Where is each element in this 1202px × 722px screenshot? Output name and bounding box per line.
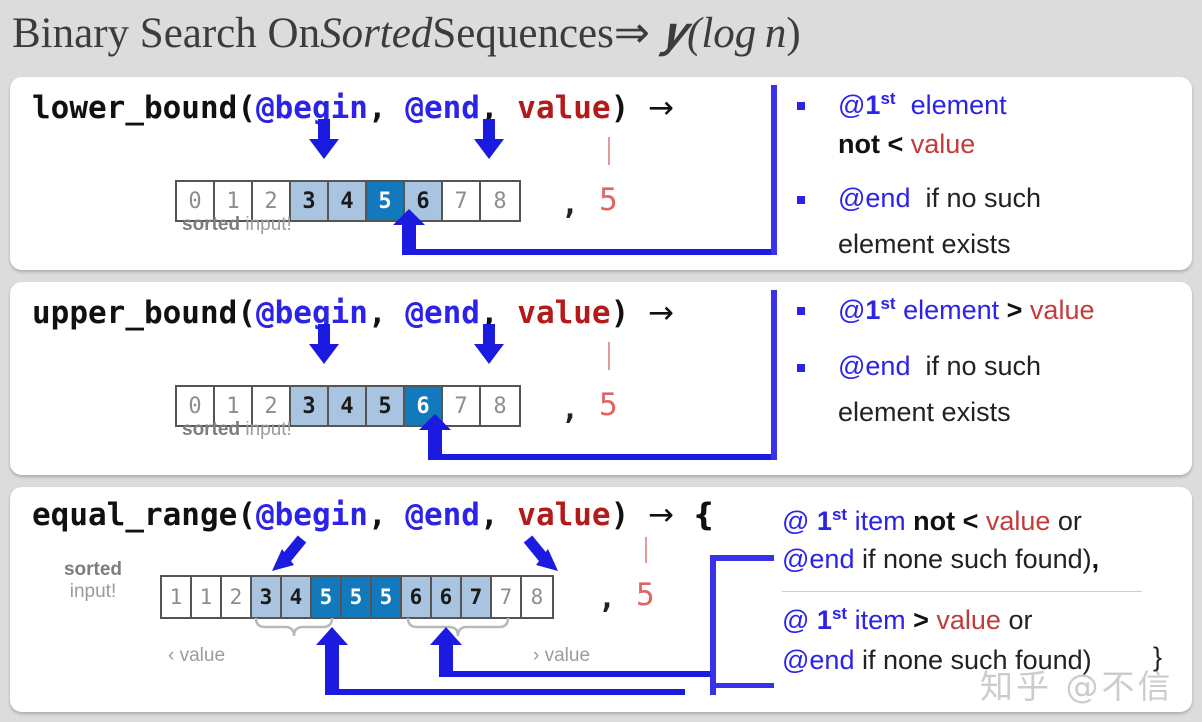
big-o-close: ) bbox=[786, 9, 800, 58]
array-cell: 6 bbox=[402, 577, 432, 617]
paren-close: ) bbox=[611, 295, 630, 331]
fn-name: upper_bound bbox=[32, 295, 237, 331]
value-number-3: 5 bbox=[636, 577, 655, 613]
result-line-1a2: not < value bbox=[838, 129, 975, 160]
paren-open: ( bbox=[237, 295, 256, 331]
input-word: input! bbox=[245, 419, 291, 440]
implies-symbol: ⇒ bbox=[614, 8, 650, 58]
paren-close: ) bbox=[611, 497, 630, 533]
watermark: 知乎 @不信 bbox=[980, 660, 1174, 708]
arg-end: @end bbox=[405, 497, 480, 533]
value-tick-3 bbox=[645, 537, 647, 563]
result-line-3a: @ 1st item not < value or bbox=[782, 505, 1082, 537]
value-number-1: 5 bbox=[599, 182, 618, 218]
array-cell: 5 bbox=[367, 387, 405, 425]
sorted-word: sorted bbox=[182, 214, 240, 235]
value-tick-1 bbox=[608, 137, 610, 165]
paren-open: ( bbox=[237, 90, 256, 126]
title-italic-sorted: Sorted bbox=[320, 9, 432, 58]
result-line-1a1: @1st element bbox=[838, 89, 1007, 121]
array-cell: 1 bbox=[192, 577, 222, 617]
arg-value: value bbox=[517, 295, 610, 331]
result-line-3c: @ 1st item > value or bbox=[782, 604, 1032, 636]
brace-less-than bbox=[256, 618, 332, 636]
big-o-notation: 𝒚(log bbox=[661, 9, 765, 58]
result-line-2b2: element exists bbox=[838, 397, 1011, 428]
array-cell: 5 bbox=[342, 577, 372, 617]
range-begin-up-arrow-icon bbox=[316, 627, 685, 695]
right-arrow-icon: → bbox=[648, 295, 674, 331]
brace-left-label: ‹ value bbox=[168, 645, 225, 667]
bullet-icon-2b bbox=[797, 364, 805, 372]
big-o-n: n bbox=[765, 9, 787, 58]
signature-lower-bound: lower_bound(@begin, @end, value) → bbox=[32, 90, 674, 126]
array-cell: 7 bbox=[443, 387, 481, 425]
fn-name: equal_range bbox=[32, 497, 237, 533]
bullet-icon-2a bbox=[797, 307, 805, 315]
array-cell: 6 bbox=[405, 387, 443, 425]
result-line-3b: @end if none such found), bbox=[782, 544, 1099, 575]
array-cell: 2 bbox=[222, 577, 252, 617]
array-cell: 7 bbox=[462, 577, 492, 617]
array-cell: 8 bbox=[522, 577, 552, 617]
paren-close: ) bbox=[611, 90, 630, 126]
sorted-input-label-2: sorted input! bbox=[182, 419, 292, 441]
right-arrow-icon: → bbox=[648, 497, 674, 533]
array-cell: 4 bbox=[329, 182, 367, 220]
result-line-2b1: @end if no such bbox=[838, 351, 1041, 382]
array-cell: 3 bbox=[291, 182, 329, 220]
arg-end: @end bbox=[405, 295, 480, 331]
value-tick-2 bbox=[608, 342, 610, 370]
sorted-word: sorted bbox=[182, 419, 240, 440]
array-cell: 5 bbox=[372, 577, 402, 617]
end-diagonal-arrow-icon bbox=[528, 539, 558, 571]
result-line-1b1: @end if no such bbox=[838, 183, 1041, 214]
arg-value: value bbox=[517, 90, 610, 126]
sep: , bbox=[480, 295, 517, 331]
sorted-input-label-1: sorted input! bbox=[182, 214, 292, 236]
sorted-word: sorted bbox=[64, 559, 122, 580]
bullet-icon-1b bbox=[797, 196, 805, 204]
brace-open: { bbox=[693, 497, 715, 533]
sep: , bbox=[480, 497, 517, 533]
array-equal-range: 1123455566778 bbox=[160, 575, 554, 619]
panel-lower-bound: lower_bound(@begin, @end, value) → 01234… bbox=[10, 77, 1192, 270]
array-cell: 3 bbox=[252, 577, 282, 617]
array-cell: 6 bbox=[432, 577, 462, 617]
input-word: input! bbox=[70, 581, 116, 602]
array-cell: 6 bbox=[405, 182, 443, 220]
array-cell: 7 bbox=[492, 577, 522, 617]
array-cell: 5 bbox=[367, 182, 405, 220]
sep: , bbox=[480, 90, 517, 126]
title-part2: Sequences bbox=[432, 9, 614, 58]
result-line-1b2: element exists bbox=[838, 229, 1011, 260]
fn-name: lower_bound bbox=[32, 90, 237, 126]
panel-upper-bound: upper_bound(@begin, @end, value) → 01234… bbox=[10, 282, 1192, 475]
arg-value: value bbox=[517, 497, 610, 533]
array-cell: 7 bbox=[443, 182, 481, 220]
array-cell: 4 bbox=[329, 387, 367, 425]
array-cell: 5 bbox=[312, 577, 342, 617]
arg-end: @end bbox=[405, 90, 480, 126]
result-line-2a1: @1st element > value bbox=[838, 294, 1094, 326]
comma-3: , bbox=[598, 581, 616, 616]
value-number-2: 5 bbox=[599, 387, 618, 423]
signature-equal-range: equal_range(@begin, @end, value) → { bbox=[32, 497, 715, 533]
array-cell: 8 bbox=[481, 182, 519, 220]
sep: , bbox=[368, 90, 405, 126]
results-divider bbox=[782, 591, 1142, 592]
array-cell: 1 bbox=[162, 577, 192, 617]
title-part1: Binary Search On bbox=[12, 9, 320, 58]
begin-diagonal-arrow-icon bbox=[272, 539, 302, 571]
arg-begin: @begin bbox=[256, 497, 368, 533]
arg-begin: @begin bbox=[256, 90, 368, 126]
page-title: Binary Search On Sorted Sequences ⇒ 𝒚(lo… bbox=[12, 0, 1192, 66]
signature-upper-bound: upper_bound(@begin, @end, value) → bbox=[32, 295, 674, 331]
array-cell: 4 bbox=[282, 577, 312, 617]
sep: , bbox=[368, 295, 405, 331]
right-arrow-icon: → bbox=[648, 90, 674, 126]
paren-open: ( bbox=[237, 497, 256, 533]
bullet-icon-1a bbox=[797, 102, 805, 110]
comma-2: , bbox=[561, 392, 579, 427]
comma-1: , bbox=[561, 187, 579, 222]
array-cell: 3 bbox=[291, 387, 329, 425]
sorted-input-label-3: sorted input! bbox=[38, 559, 148, 603]
result-connector-3 bbox=[710, 555, 774, 695]
array-cell: 8 bbox=[481, 387, 519, 425]
input-word: input! bbox=[245, 214, 291, 235]
brace-right-label: › value bbox=[533, 645, 590, 667]
brace-greater-than bbox=[408, 618, 508, 636]
sep: , bbox=[368, 497, 405, 533]
arg-begin: @begin bbox=[256, 295, 368, 331]
